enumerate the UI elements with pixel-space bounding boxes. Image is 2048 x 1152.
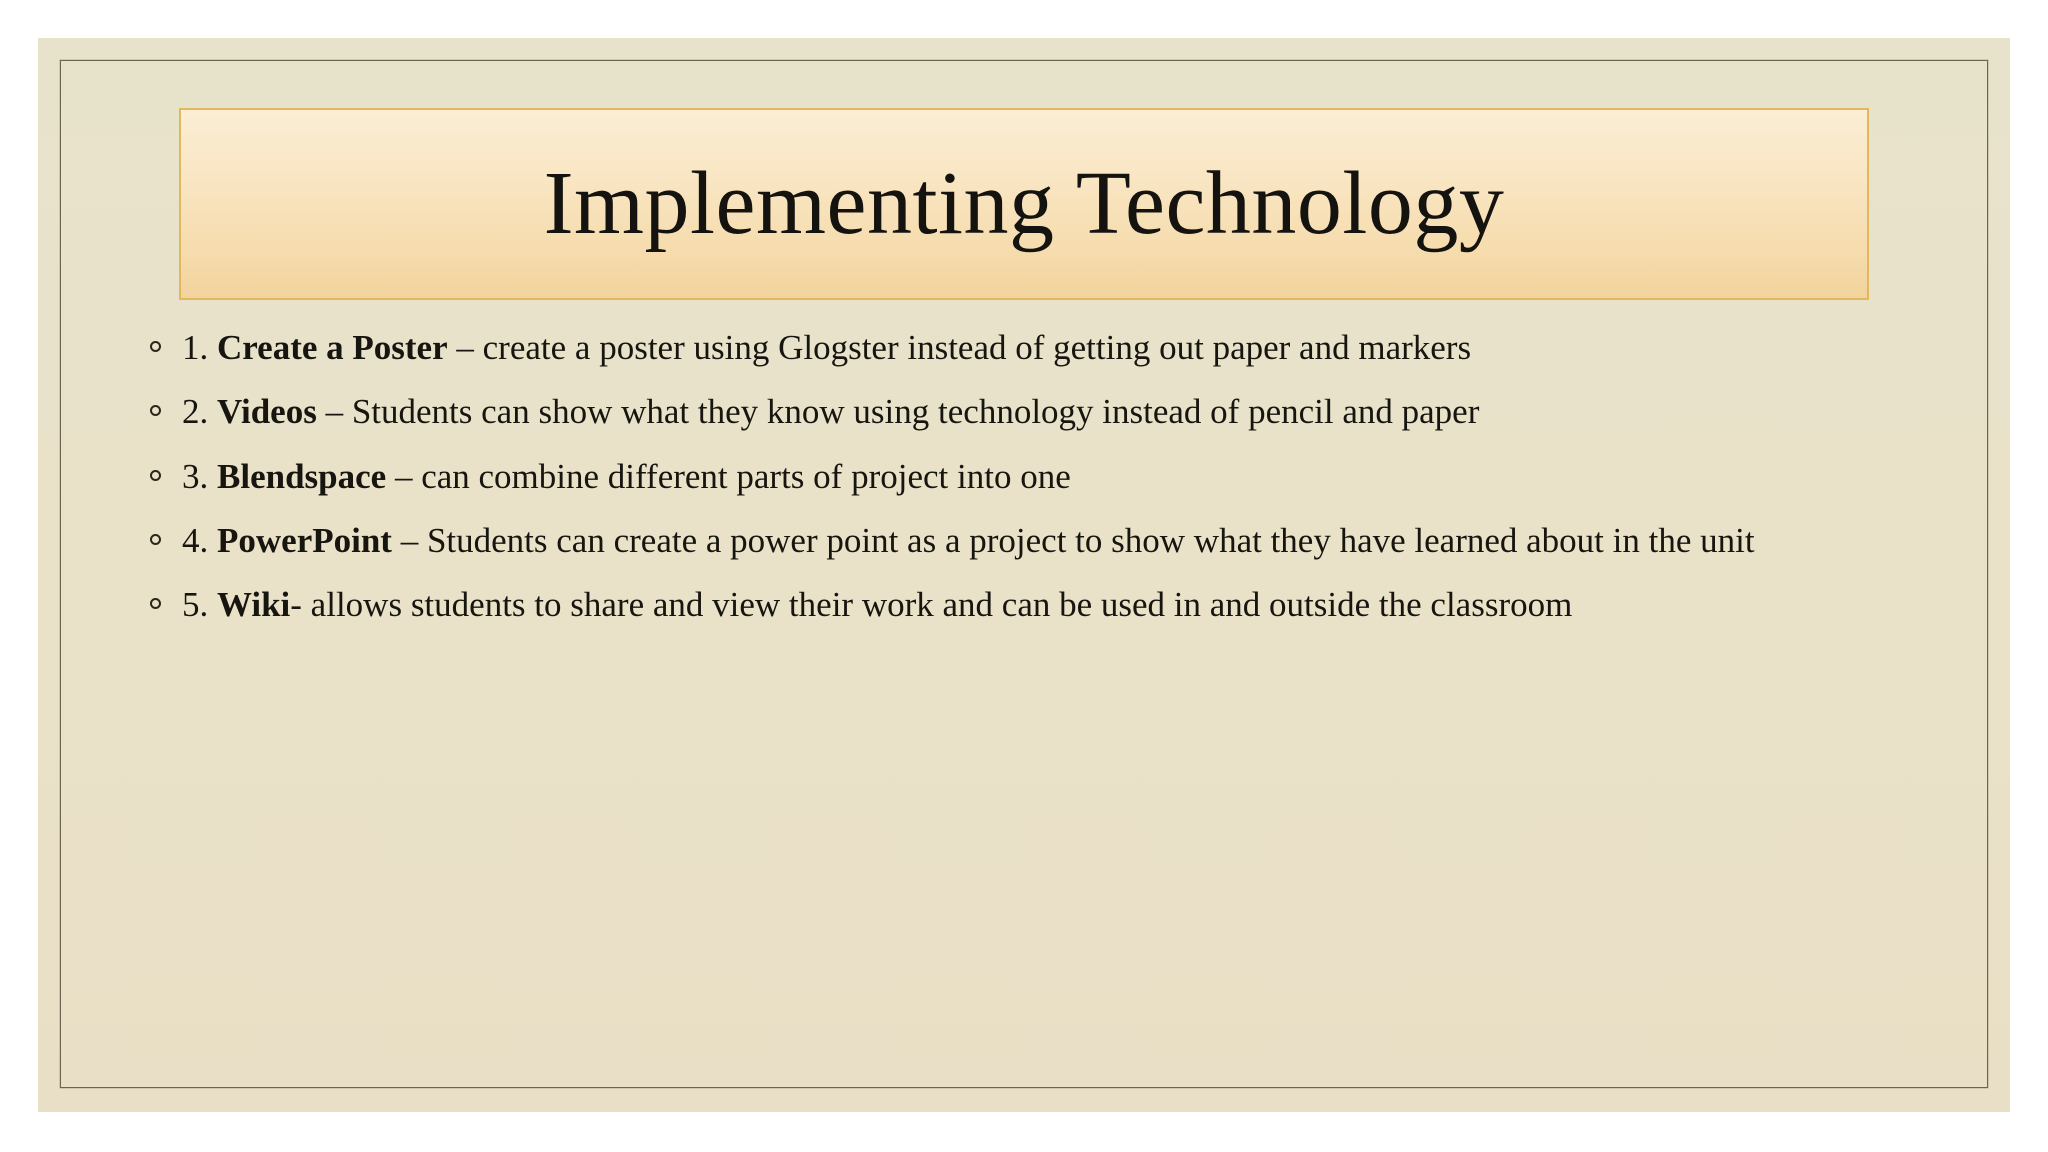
list-item-term: Create a Poster bbox=[217, 328, 448, 367]
slide-canvas: Implementing Technology 1. Create a Post… bbox=[38, 38, 2010, 1112]
list-item-description: – create a poster using Glogster instead… bbox=[448, 328, 1471, 367]
list-item-number: 1. bbox=[182, 328, 217, 367]
list-item-term: PowerPoint bbox=[217, 521, 392, 560]
list-item: 2. Videos – Students can show what they … bbox=[146, 388, 1906, 436]
slide-body: 1. Create a Poster – create a poster usi… bbox=[146, 324, 1906, 1024]
list-item-description: – Students can show what they know using… bbox=[317, 392, 1480, 431]
list-item-number: 3. bbox=[182, 457, 217, 496]
list-item-number: 4. bbox=[182, 521, 217, 560]
list-item-number: 2. bbox=[182, 392, 217, 431]
hollow-circle-bullet-icon bbox=[150, 405, 161, 416]
slide-title-box: Implementing Technology bbox=[179, 108, 1869, 300]
list-item-description: – Students can create a power point as a… bbox=[392, 521, 1755, 560]
list-item-term: Blendspace bbox=[217, 457, 386, 496]
hollow-circle-bullet-icon bbox=[150, 341, 161, 352]
page-title: Implementing Technology bbox=[544, 157, 1505, 252]
bullet-list: 1. Create a Poster – create a poster usi… bbox=[146, 324, 1906, 629]
hollow-circle-bullet-icon bbox=[150, 470, 161, 481]
list-item-term: Wiki bbox=[217, 585, 290, 624]
list-item: 4. PowerPoint – Students can create a po… bbox=[146, 517, 1906, 565]
list-item: 3. Blendspace – can combine different pa… bbox=[146, 453, 1906, 501]
list-item-term: Videos bbox=[217, 392, 317, 431]
hollow-circle-bullet-icon bbox=[150, 598, 161, 609]
list-item-description: - allows students to share and view thei… bbox=[290, 585, 1572, 624]
hollow-circle-bullet-icon bbox=[150, 534, 161, 545]
list-item-number: 5. bbox=[182, 585, 217, 624]
list-item-description: – can combine different parts of project… bbox=[386, 457, 1071, 496]
list-item: 5. Wiki- allows students to share and vi… bbox=[146, 581, 1906, 629]
list-item: 1. Create a Poster – create a poster usi… bbox=[146, 324, 1906, 372]
